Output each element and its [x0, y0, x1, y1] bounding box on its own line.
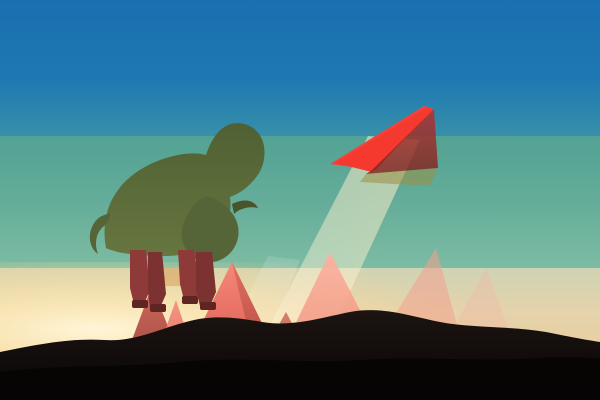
candlestick-chart-bottom — [0, 0, 600, 400]
poster-canvas — [0, 0, 600, 400]
